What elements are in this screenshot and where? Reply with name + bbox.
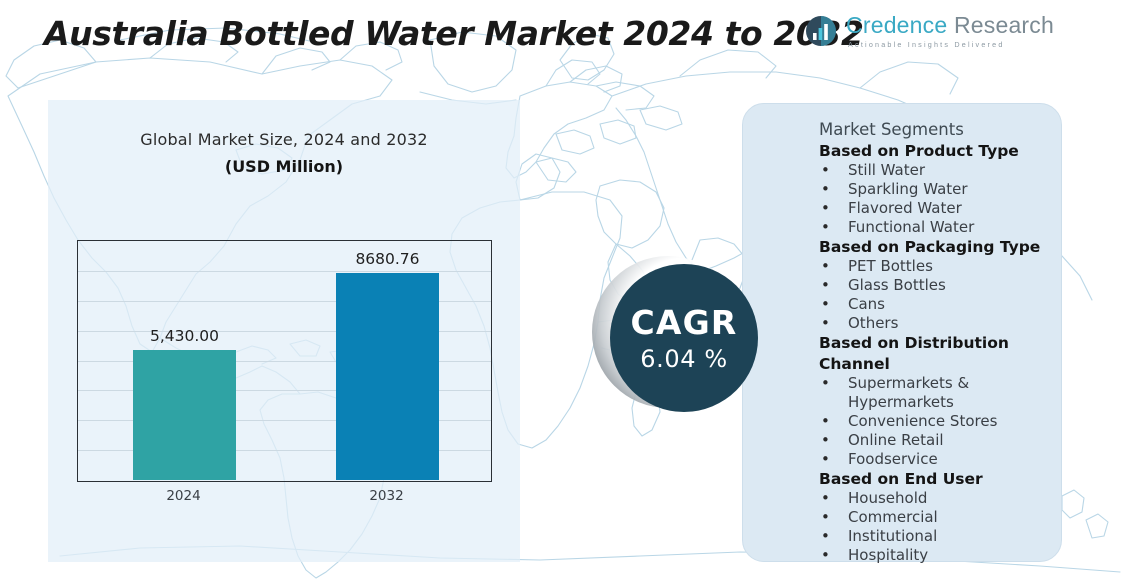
bar-value-2024: 5,430.00 [133,327,236,345]
bullet-icon: • [821,450,830,469]
segment-item[interactable]: •Hospitality [819,546,1061,565]
segment-item[interactable]: •Sparkling Water [819,180,1061,199]
market-segments-heading: Market Segments [819,120,1061,141]
bullet-icon: • [821,508,830,527]
cagr-label: CAGR [630,306,737,339]
segment-item-label: Flavored Water [848,199,962,217]
bar-2024[interactable] [133,350,236,480]
page-title: Australia Bottled Water Market 2024 to 2… [44,14,864,53]
bullet-icon: • [821,295,830,314]
segment-item[interactable]: •Foodservice [819,450,1061,469]
bullet-icon: • [821,431,830,450]
segment-item-label: Still Water [848,161,925,179]
x-label-2032: 2032 [335,488,438,504]
market-size-chart-panel: Global Market Size, 2024 and 2032 (USD M… [48,100,520,562]
chart-bars: 5,430.00 8680.76 [78,241,491,481]
bar-value-2032: 8680.76 [336,250,439,268]
segment-item[interactable]: •Functional Water [819,218,1061,237]
segment-item-label: Supermarkets & [848,374,969,392]
bullet-icon: • [821,527,830,546]
segment-group-title: Based on Product Type [819,141,1061,161]
cagr-circle: CAGR 6.04 % [610,264,758,412]
bullet-icon: • [821,314,830,333]
market-segments-list: Based on Product Type•Still Water•Sparkl… [743,141,1061,566]
bar-2032[interactable] [336,273,439,480]
bullet-icon: • [821,199,830,218]
segment-item-label: Hospitality [848,546,928,564]
logo-tagline: Actionable Insights Delivered [848,41,1054,48]
market-segments-panel: Market Segments Based on Product Type•St… [742,103,1062,562]
segment-item[interactable]: •Institutional [819,527,1061,546]
segment-item-label: Household [848,489,927,507]
segment-item-label: Institutional [848,527,937,545]
cagr-badge: CAGR 6.04 % [592,256,760,424]
bullet-icon: • [821,546,830,565]
segment-item[interactable]: •Still Water [819,161,1061,180]
segment-item[interactable]: •Glass Bottles [819,276,1061,295]
segment-group-title: Based on End User [819,469,1061,489]
chart-subtitle: (USD Million) [48,157,520,176]
brand-logo[interactable]: Credence Research Actionable Insights De… [805,14,1054,48]
segment-item[interactable]: •Others [819,314,1061,333]
x-label-2024: 2024 [132,488,235,504]
bullet-icon: • [821,412,830,431]
segment-item-label: Convenience Stores [848,412,997,430]
bullet-icon: • [821,218,830,237]
bar-chart-circle-icon [805,15,837,47]
segment-item-label: PET Bottles [848,257,933,275]
segment-item[interactable]: •Flavored Water [819,199,1061,218]
bullet-icon: • [821,489,830,508]
segment-item-label: Cans [848,295,885,313]
logo-text: Credence Research Actionable Insights De… [846,14,1054,48]
bullet-icon: • [821,374,830,393]
segment-item-label: Functional Water [848,218,974,236]
header: Australia Bottled Water Market 2024 to 2… [0,0,1142,72]
segment-item-label: Sparkling Water [848,180,968,198]
chart-title: Global Market Size, 2024 and 2032 [48,130,520,149]
segment-item[interactable]: •PET Bottles [819,257,1061,276]
segment-item[interactable]: •Commercial [819,508,1061,527]
segment-item-label: Foodservice [848,450,938,468]
segment-item-label: Hypermarkets [848,393,954,411]
segment-item[interactable]: •Household [819,489,1061,508]
logo-word-credence: Credence [846,12,947,38]
segment-item[interactable]: Hypermarkets [819,393,1061,412]
logo-word-research: Research [954,12,1054,38]
cagr-value: 6.04 % [640,347,727,371]
segment-group-title: Based on Packaging Type [819,237,1061,257]
bullet-icon: • [821,180,830,199]
segment-item-label: Others [848,314,898,332]
segment-group-title: Based on Distribution Channel [819,333,1061,373]
segment-item-label: Glass Bottles [848,276,946,294]
bar-chart-plot: 5,430.00 8680.76 [77,240,492,482]
segment-item[interactable]: •Online Retail [819,431,1061,450]
bullet-icon: • [821,257,830,276]
segment-item[interactable]: •Convenience Stores [819,412,1061,431]
segment-item[interactable]: •Supermarkets & [819,374,1061,393]
segment-item-label: Commercial [848,508,938,526]
segment-item-label: Online Retail [848,431,944,449]
segment-item[interactable]: •Cans [819,295,1061,314]
bullet-icon: • [821,161,830,180]
bullet-icon: • [821,276,830,295]
